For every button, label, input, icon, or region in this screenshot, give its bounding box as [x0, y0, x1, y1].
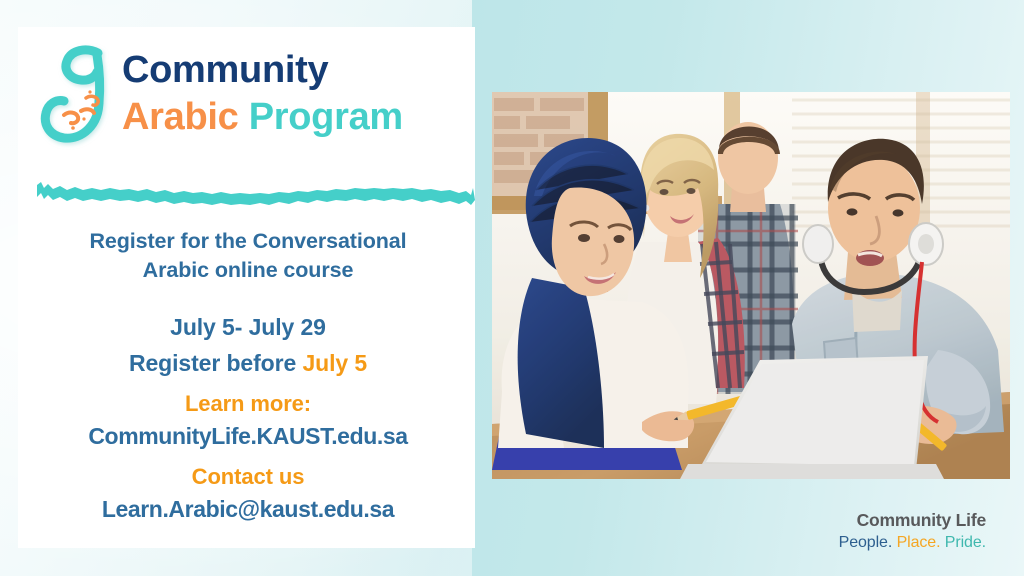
title-line-arabic-program: Arabic Program: [122, 96, 403, 139]
arabic-ayn-logo: [40, 43, 118, 153]
website-link[interactable]: CommunityLife.KAUST.edu.sa: [34, 420, 462, 453]
email-link[interactable]: Learn.Arabic@kaust.edu.sa: [34, 493, 462, 526]
course-dates: July 5- July 29: [34, 310, 462, 346]
title-word-arabic: Arabic: [122, 96, 238, 138]
deadline-date: July 5: [302, 350, 367, 376]
title-row: Community Arabic Program: [40, 43, 460, 163]
tagline-word-pride: Pride.: [945, 534, 986, 551]
brand-tagline: People. Place. Pride.: [839, 533, 986, 554]
lead-line-1: Register for the Conversational: [34, 227, 462, 256]
title-line-community: Community: [122, 49, 403, 92]
contact-us-label: Contact us: [34, 460, 462, 493]
registration-deadline: Register before July 5: [34, 346, 462, 382]
learn-more-label: Learn more:: [34, 387, 462, 420]
title-stack: Community Arabic Program: [122, 49, 403, 138]
poster-canvas: Community Arabic Program Register for th…: [0, 0, 1024, 576]
deadline-prefix: Register before: [129, 350, 303, 376]
brush-stroke-divider: [34, 177, 476, 213]
title-word-program: Program: [249, 96, 403, 138]
content-card: Community Arabic Program Register for th…: [18, 27, 475, 548]
community-life-brand-lockup: Community Life People. Place. Pride.: [839, 510, 986, 554]
students-photo: [492, 92, 1010, 479]
tagline-word-people: People.: [839, 534, 893, 551]
lead-line-2: Arabic online course: [34, 256, 462, 285]
tagline-word-place: Place.: [897, 534, 941, 551]
brand-name: Community Life: [839, 510, 986, 532]
spacer: [34, 284, 462, 310]
body-copy: Register for the Conversational Arabic o…: [34, 227, 462, 526]
lead-text: Register for the Conversational Arabic o…: [34, 227, 462, 284]
